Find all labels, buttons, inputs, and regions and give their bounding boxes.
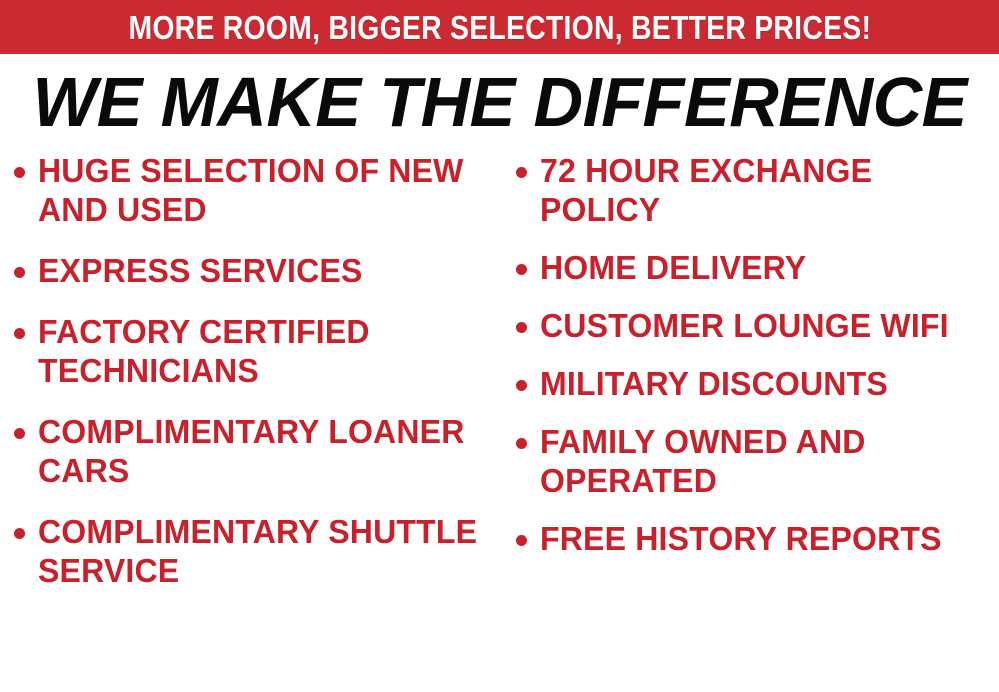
benefit-label: FREE HISTORY REPORTS [540,520,985,559]
list-item: EXPRESS SERVICES [14,252,504,291]
list-item: FREE HISTORY REPORTS [516,520,999,559]
benefit-label: HUGE SELECTION OF NEW AND USED [38,152,490,230]
benefit-label: FACTORY CERTIFIED TECHNICIANS [38,313,490,391]
list-item: COMPLIMENTARY LOANER CARS [14,413,504,491]
list-item: CUSTOMER LOUNGE WIFI [516,307,999,346]
list-item: HUGE SELECTION OF NEW AND USED [14,152,504,230]
bullet-dot-icon [14,167,25,178]
bullet-dot-icon [516,167,527,178]
list-item: FACTORY CERTIFIED TECHNICIANS [14,313,504,391]
bullet-dot-icon [516,535,527,546]
benefit-label: COMPLIMENTARY SHUTTLE SERVICE [38,513,490,591]
benefit-label: EXPRESS SERVICES [38,252,490,291]
benefits-columns: HUGE SELECTION OF NEW AND USED EXPRESS S… [0,152,999,692]
bullet-dot-icon [516,438,527,449]
list-item: 72 HOUR EXCHANGE POLICY [516,152,999,230]
promo-poster: MORE ROOM, BIGGER SELECTION, BETTER PRIC… [0,0,999,692]
benefits-column-right: 72 HOUR EXCHANGE POLICY HOME DELIVERY CU… [516,152,999,692]
bullet-dot-icon [516,322,527,333]
bullet-dot-icon [14,328,25,339]
top-banner: MORE ROOM, BIGGER SELECTION, BETTER PRIC… [0,0,999,54]
bullet-dot-icon [14,528,25,539]
benefits-column-left: HUGE SELECTION OF NEW AND USED EXPRESS S… [14,152,504,692]
page-title: WE MAKE THE DIFFERENCE [32,67,966,137]
headline-container: WE MAKE THE DIFFERENCE [0,62,999,142]
bullet-dot-icon [516,380,527,391]
list-item: HOME DELIVERY [516,249,999,288]
benefit-label: CUSTOMER LOUNGE WIFI [540,307,985,346]
list-item: COMPLIMENTARY SHUTTLE SERVICE [14,513,504,591]
banner-headline-text: MORE ROOM, BIGGER SELECTION, BETTER PRIC… [128,11,871,44]
benefit-label: FAMILY OWNED AND OPERATED [540,423,985,501]
list-item: MILITARY DISCOUNTS [516,365,999,404]
bullet-dot-icon [14,428,25,439]
benefit-label: 72 HOUR EXCHANGE POLICY [540,152,985,230]
bullet-dot-icon [14,267,25,278]
benefit-label: HOME DELIVERY [540,249,985,288]
benefit-label: COMPLIMENTARY LOANER CARS [38,413,490,491]
bullet-dot-icon [516,264,527,275]
benefit-label: MILITARY DISCOUNTS [540,365,985,404]
list-item: FAMILY OWNED AND OPERATED [516,423,999,501]
